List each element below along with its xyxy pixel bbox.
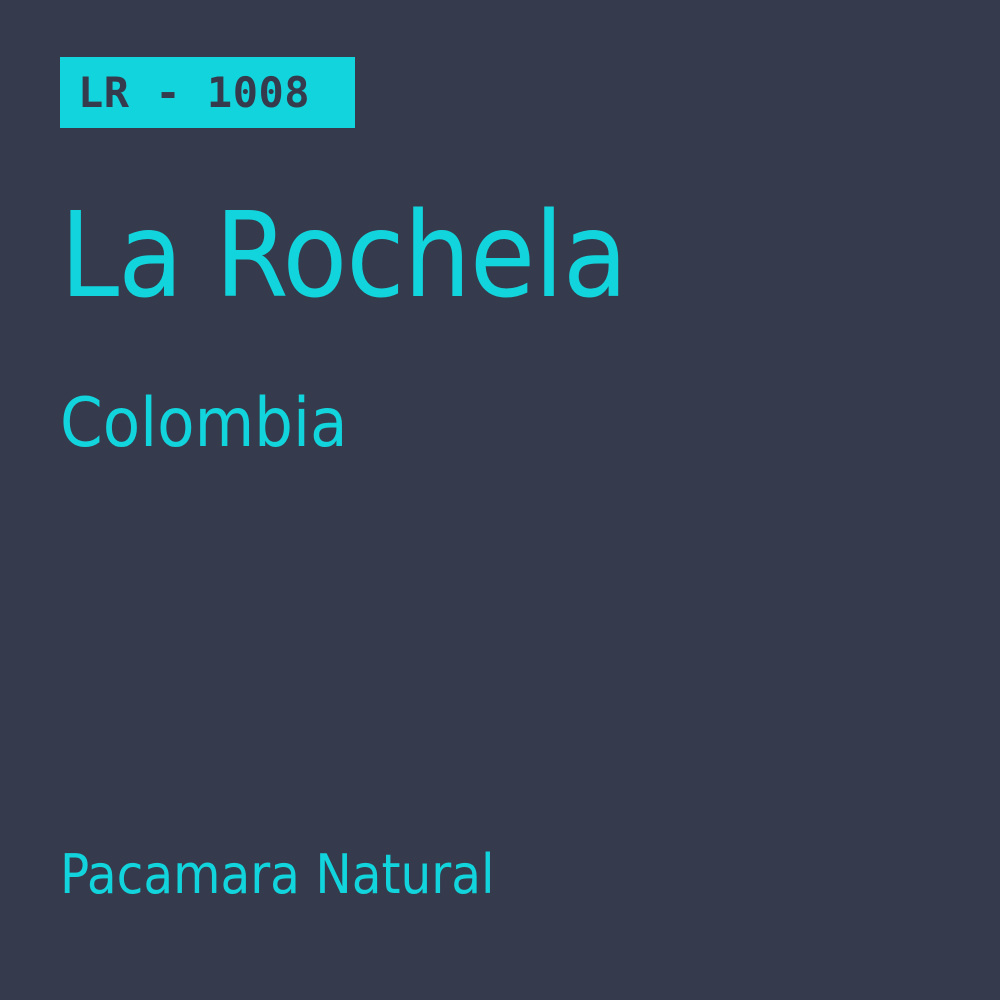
variety-process-label: Pacamara Natural — [60, 848, 495, 902]
coffee-label-card: LR - 1008 La Rochela Colombia Pacamara N… — [0, 0, 1000, 1000]
farm-name-heading: La Rochela — [60, 196, 940, 314]
origin-country-label: Colombia — [60, 390, 348, 458]
lot-code-badge: LR - 1008 — [60, 57, 355, 128]
lot-code-text: LR - 1008 — [78, 72, 310, 114]
